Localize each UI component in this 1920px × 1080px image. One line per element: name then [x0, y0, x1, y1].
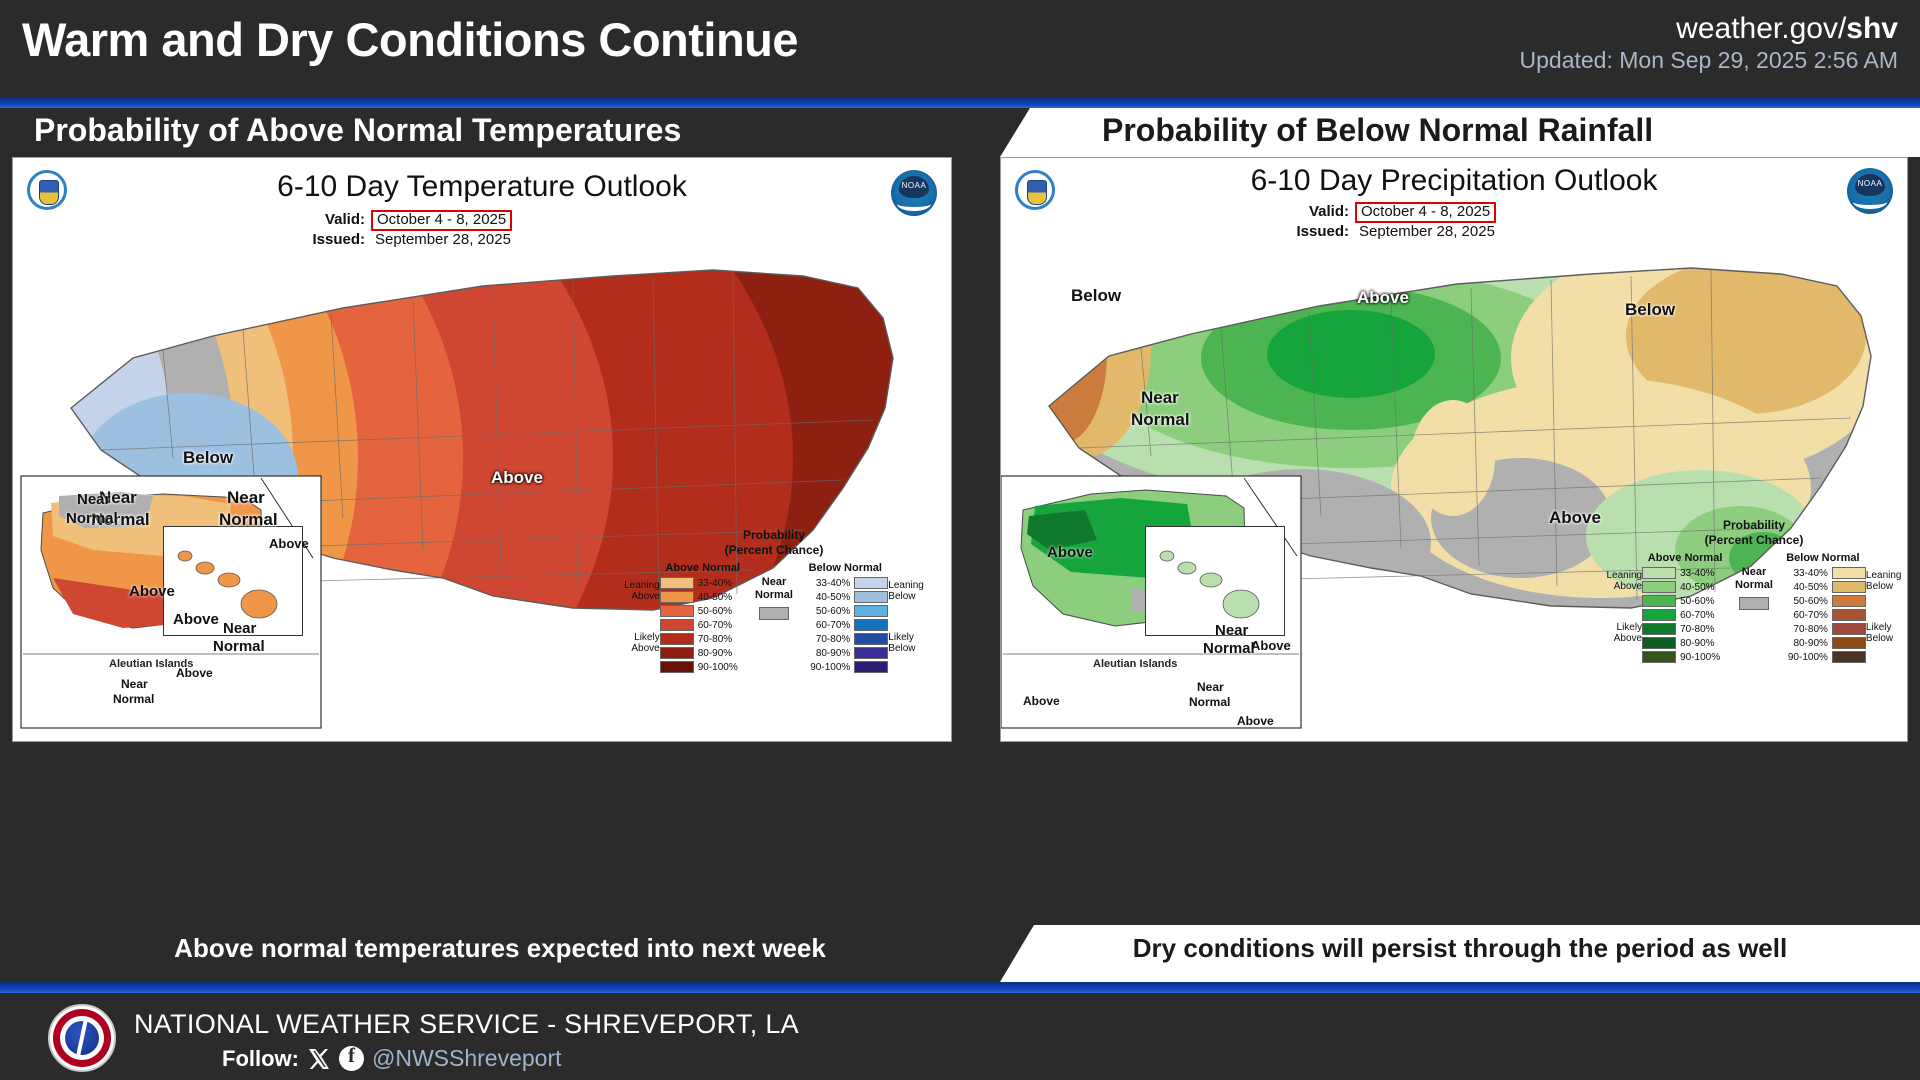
- legend-col-below: Below Normal 33-40%40-50%50-60%60-70%70-…: [802, 562, 888, 674]
- alaska-label-normal-panhandle: Normal: [213, 638, 265, 655]
- legend-bin-label: 60-70%: [802, 620, 850, 631]
- legend-likely-above-label: LikelyAbove: [1601, 622, 1642, 644]
- alaska-label-near: Near: [1215, 622, 1248, 639]
- legend-bin-label: 50-60%: [698, 606, 746, 617]
- legend-bin-label: 80-90%: [1680, 638, 1728, 649]
- alaska-label-near: Near: [77, 491, 110, 508]
- legend-row: 70-80%: [1642, 622, 1728, 636]
- legend-row: 33-40%: [1642, 566, 1728, 580]
- legend-swatch: [854, 605, 888, 617]
- map-label-above-florida: Above: [1549, 508, 1601, 528]
- site-url-prefix: weather.gov/: [1676, 12, 1846, 45]
- legend-above-head: Above Normal: [660, 562, 746, 574]
- legend-title-line2: (Percent Chance): [1601, 533, 1907, 548]
- legend-likely-above-label: LikelyAbove: [609, 632, 660, 654]
- legend-swatch: [854, 577, 888, 589]
- header-right-block: weather.gov/shv Updated: Mon Sep 29, 202…: [1520, 12, 1899, 74]
- legend-bin-label: 60-70%: [1680, 610, 1728, 621]
- legend-row: 80-90%: [660, 646, 746, 660]
- legend-bin-label: 40-50%: [1780, 582, 1828, 593]
- legend-likely-below-label: LikelyBelow: [1866, 622, 1907, 644]
- legend-swatch: [1832, 609, 1866, 621]
- legend-swatch: [1642, 581, 1676, 593]
- legend-bin-label: 60-70%: [1780, 610, 1828, 621]
- legend-swatch: [1832, 595, 1866, 607]
- footer-follow-row: Follow: @NWSShreveport: [222, 1045, 562, 1072]
- legend-bin-label: 70-80%: [802, 634, 850, 645]
- legend-swatch: [1642, 623, 1676, 635]
- precipitation-legend: Probability (Percent Chance) LeaningAbov…: [1601, 518, 1907, 664]
- caption-band: Above normal temperatures expected into …: [0, 925, 1920, 982]
- legend-bin-label: 80-90%: [698, 648, 746, 659]
- legend-col-above: Above Normal 33-40%40-50%50-60%60-70%70-…: [660, 562, 746, 674]
- precipitation-map-panel[interactable]: 6-10 Day Precipitation Outlook Valid: Oc…: [1000, 157, 1908, 742]
- legend-likely-below-label: LikelyBelow: [888, 632, 939, 654]
- legend-bin-label: 70-80%: [1780, 624, 1828, 635]
- hawaii-label-above: Above: [1251, 638, 1291, 653]
- legend-row: 70-80%: [1780, 622, 1866, 636]
- legend-bin-label: 70-80%: [698, 634, 746, 645]
- legend-swatch: [1642, 637, 1676, 649]
- legend-col-below: Below Normal 33-40%40-50%50-60%60-70%70-…: [1780, 552, 1866, 664]
- legend-swatch: [660, 619, 694, 631]
- legend-near-line1: Near: [762, 576, 786, 589]
- legend-row: 80-90%: [802, 646, 888, 660]
- aleutian-note-above-east: Above: [1237, 714, 1274, 728]
- legend-swatch: [1832, 567, 1866, 579]
- aleutian-note-near: Near: [1197, 680, 1224, 694]
- legend-swatch: [1642, 609, 1676, 621]
- legend-swatch: [1642, 567, 1676, 579]
- footer-accent-bar: [0, 982, 1920, 993]
- legend-swatch: [1832, 581, 1866, 593]
- legend-title-line1: Probability: [1601, 518, 1907, 533]
- aleutian-note-above: Above: [176, 666, 213, 680]
- legend-swatch: [854, 619, 888, 631]
- legend-row: 50-60%: [660, 604, 746, 618]
- legend-swatch: [1832, 651, 1866, 663]
- legend-row: 70-80%: [660, 632, 746, 646]
- legend-below-head: Below Normal: [1780, 552, 1866, 564]
- legend-swatch: [660, 647, 694, 659]
- legend-row: 40-50%: [1642, 580, 1728, 594]
- map-label-normal-sw: Normal: [1131, 410, 1190, 430]
- legend-row: 50-60%: [802, 604, 888, 618]
- legend-bin-label: 33-40%: [802, 578, 850, 589]
- legend-bin-label: 40-50%: [1680, 582, 1728, 593]
- follow-label: Follow:: [222, 1046, 299, 1072]
- hawaii-label-above: Above: [269, 536, 309, 551]
- legend-row: 80-90%: [1780, 636, 1866, 650]
- footer-bar: NATIONAL WEATHER SERVICE - SHREVEPORT, L…: [0, 993, 1920, 1080]
- header-accent-bar: [0, 97, 1920, 108]
- legend-near-normal: Near Normal: [1728, 552, 1780, 610]
- legend-row: 60-70%: [1780, 608, 1866, 622]
- legend-swatch: [854, 633, 888, 645]
- legend-row: 33-40%: [802, 576, 888, 590]
- x-twitter-icon[interactable]: [307, 1047, 331, 1071]
- legend-row: 90-100%: [660, 660, 746, 674]
- legend-bin-label: 40-50%: [802, 592, 850, 603]
- panel-title-band: Probability of Above Normal Temperatures…: [0, 108, 1920, 157]
- legend-bin-label: 40-50%: [698, 592, 746, 603]
- legend-bracket-above: LeaningAbove LikelyAbove: [1601, 552, 1642, 644]
- legend-swatch: [1642, 651, 1676, 663]
- page-title: Warm and Dry Conditions Continue: [22, 12, 798, 67]
- legend-bracket-above: LeaningAbove LikelyAbove: [609, 562, 660, 654]
- legend-bin-label: 33-40%: [1680, 568, 1728, 579]
- facebook-icon[interactable]: [339, 1046, 364, 1071]
- legend-above-head: Above Normal: [1642, 552, 1728, 564]
- legend-bin-label: 33-40%: [698, 578, 746, 589]
- map-label-normal-inter: Normal: [219, 510, 278, 530]
- legend-leaning-above-label: LeaningAbove: [1601, 570, 1642, 592]
- legend-swatch: [854, 647, 888, 659]
- legend-bin-label: 50-60%: [802, 606, 850, 617]
- legend-swatch: [660, 591, 694, 603]
- legend-bin-label: 80-90%: [802, 648, 850, 659]
- nws-seal-icon: [48, 1004, 116, 1072]
- temperature-legend: Probability (Percent Chance) LeaningAbov…: [609, 528, 939, 674]
- legend-row: 33-40%: [660, 576, 746, 590]
- legend-near-swatch: [759, 607, 789, 620]
- legend-near-line2: Normal: [1735, 579, 1773, 592]
- legend-swatch: [854, 591, 888, 603]
- legend-bracket-below: LeaningBelow LikelyBelow: [888, 562, 939, 654]
- legend-near-normal: Near Normal: [746, 562, 803, 620]
- social-handle[interactable]: @NWSShreveport: [372, 1045, 562, 1072]
- legend-leaning-below-label: LeaningBelow: [1866, 570, 1907, 592]
- legend-bin-label: 50-60%: [1680, 596, 1728, 607]
- alaska-label-normal: Normal: [1203, 640, 1255, 657]
- legend-row: 60-70%: [1642, 608, 1728, 622]
- graphic-root: Warm and Dry Conditions Continue weather…: [0, 0, 1920, 1080]
- footer-office-name: NATIONAL WEATHER SERVICE - SHREVEPORT, L…: [134, 1009, 799, 1040]
- legend-below-rows: 33-40%40-50%50-60%60-70%70-80%80-90%90-1…: [802, 576, 888, 674]
- map-label-above: Above: [491, 468, 543, 488]
- caption-temperature: Above normal temperatures expected into …: [0, 933, 1000, 964]
- legend-grid: LeaningAbove LikelyAbove Above Normal 33…: [1601, 552, 1907, 664]
- map-label-near-inter: Near: [227, 488, 265, 508]
- alaska-label-normal: Normal: [66, 510, 118, 527]
- legend-row: 40-50%: [660, 590, 746, 604]
- legend-row: 60-70%: [660, 618, 746, 632]
- panel-title-temperature: Probability of Above Normal Temperatures: [34, 112, 681, 149]
- map-label-below-west: Below: [1071, 286, 1121, 306]
- legend-row: 50-60%: [1642, 594, 1728, 608]
- legend-bracket-below: LeaningBelow LikelyBelow: [1866, 552, 1907, 644]
- aleutian-islands-label: Aleutian Islands: [1093, 658, 1177, 670]
- map-label-above-plains: Above: [1357, 288, 1409, 308]
- legend-row: 60-70%: [802, 618, 888, 632]
- map-label-below-northeast: Below: [1625, 300, 1675, 320]
- legend-bin-label: 90-100%: [698, 662, 746, 673]
- legend-bin-label: 33-40%: [1780, 568, 1828, 579]
- caption-precipitation: Dry conditions will persist through the …: [1010, 933, 1910, 964]
- legend-row: 40-50%: [802, 590, 888, 604]
- hawaii-inset-box-precipitation: [1145, 526, 1285, 636]
- legend-below-head: Below Normal: [802, 562, 888, 574]
- aleutian-note-near: Near: [121, 677, 148, 691]
- legend-bin-label: 90-100%: [802, 662, 850, 673]
- map-label-near-sw: Near: [1141, 388, 1179, 408]
- legend-row: 33-40%: [1780, 566, 1866, 580]
- legend-swatch: [1832, 637, 1866, 649]
- legend-near-line1: Near: [1742, 566, 1766, 579]
- legend-leaning-above-label: LeaningAbove: [609, 580, 660, 602]
- legend-title-line2: (Percent Chance): [609, 543, 939, 558]
- panel-title-precipitation: Probability of Below Normal Rainfall: [1102, 112, 1653, 149]
- legend-row: 90-100%: [1642, 650, 1728, 664]
- legend-bin-label: 60-70%: [698, 620, 746, 631]
- legend-near-line2: Normal: [755, 589, 793, 602]
- legend-row: 40-50%: [1780, 580, 1866, 594]
- site-url[interactable]: weather.gov/shv: [1520, 12, 1899, 46]
- legend-bin-label: 90-100%: [1780, 652, 1828, 663]
- legend-swatch: [1642, 595, 1676, 607]
- legend-above-rows: 33-40%40-50%50-60%60-70%70-80%80-90%90-1…: [1642, 566, 1728, 664]
- aleutian-note-normal: Normal: [1189, 695, 1230, 709]
- legend-row: 50-60%: [1780, 594, 1866, 608]
- legend-row: 80-90%: [1642, 636, 1728, 650]
- legend-below-rows: 33-40%40-50%50-60%60-70%70-80%80-90%90-1…: [1780, 566, 1866, 664]
- map-label-below: Below: [183, 448, 233, 468]
- legend-leaning-below-label: LeaningBelow: [888, 580, 939, 602]
- legend-title-line1: Probability: [609, 528, 939, 543]
- header-bar: Warm and Dry Conditions Continue weather…: [0, 0, 1920, 97]
- legend-swatch: [660, 661, 694, 673]
- legend-bin-label: 80-90%: [1780, 638, 1828, 649]
- legend-row: 90-100%: [802, 660, 888, 674]
- legend-near-swatch: [1739, 597, 1769, 610]
- legend-row: 90-100%: [1780, 650, 1866, 664]
- legend-swatch: [660, 605, 694, 617]
- legend-bin-label: 90-100%: [1680, 652, 1728, 663]
- aleutian-note-above-west: Above: [1023, 694, 1060, 708]
- legend-bin-label: 70-80%: [1680, 624, 1728, 635]
- legend-bin-label: 50-60%: [1780, 596, 1828, 607]
- alaska-label-above-panhandle: Above: [173, 611, 219, 628]
- alaska-label-above: Above: [129, 583, 175, 600]
- updated-timestamp: Updated: Mon Sep 29, 2025 2:56 AM: [1520, 46, 1899, 75]
- legend-row: 70-80%: [802, 632, 888, 646]
- temperature-map-panel[interactable]: 6-10 Day Temperature Outlook Valid: Octo…: [12, 157, 952, 742]
- legend-swatch: [660, 633, 694, 645]
- legend-swatch: [1832, 623, 1866, 635]
- site-url-office: shv: [1846, 12, 1898, 45]
- legend-swatch: [854, 661, 888, 673]
- legend-swatch: [660, 577, 694, 589]
- aleutian-note-normal: Normal: [113, 692, 154, 706]
- legend-above-rows: 33-40%40-50%50-60%60-70%70-80%80-90%90-1…: [660, 576, 746, 674]
- legend-grid: LeaningAbove LikelyAbove Above Normal 33…: [609, 562, 939, 674]
- alaska-label-near-panhandle: Near: [223, 620, 256, 637]
- alaska-label-above: Above: [1047, 544, 1093, 561]
- legend-col-above: Above Normal 33-40%40-50%50-60%60-70%70-…: [1642, 552, 1728, 664]
